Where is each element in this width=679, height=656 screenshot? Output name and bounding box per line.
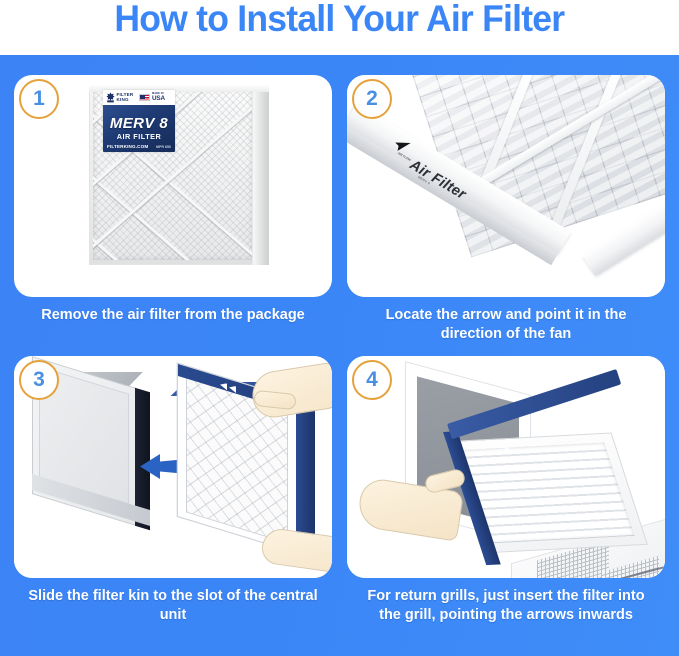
- step-4-card: [347, 356, 665, 578]
- step-3-number-badge: 3: [19, 360, 59, 400]
- slide-filter-illustration: [14, 356, 332, 578]
- step-4: 4 For return grills, just insert the fil…: [347, 356, 665, 646]
- filter-king-wordmark: FILTER KING: [117, 93, 134, 103]
- page-header: How to Install Your Air Filter: [0, 0, 679, 55]
- step-3-card: [14, 356, 332, 578]
- step-3: 3 Slide the filter kin to the slot of th…: [14, 356, 332, 646]
- crown-king-icon: [106, 92, 115, 103]
- infographic-page: How to Install Your Air Filter: [0, 0, 679, 656]
- return-grill-illustration: [347, 356, 665, 578]
- filter-side-edge: [252, 85, 269, 265]
- filter-label: FILTER KING MADE IN: [103, 90, 175, 152]
- air-filter-corner-photo: AIR FLOW Air Filter MERV 8: [347, 75, 665, 297]
- usa-flag-icon: [139, 94, 150, 101]
- website-text: FILTERKING.COM: [107, 144, 148, 149]
- step-1-number-badge: 1: [19, 79, 59, 119]
- step-4-number-badge: 4: [352, 360, 392, 400]
- step-4-caption: For return grills, just insert the filte…: [361, 587, 651, 625]
- label-header-row: FILTER KING MADE IN: [103, 90, 175, 105]
- filter-king-logo: FILTER KING: [106, 92, 133, 103]
- product-type-text: AIR FILTER: [103, 132, 175, 141]
- air-filter-product: FILTER KING MADE IN: [89, 85, 269, 265]
- hand-lower: [260, 527, 332, 574]
- step-2: AIR FLOW Air Filter MERV 8 2 Locate the …: [347, 75, 665, 350]
- merv-rating-text: MERV 8: [103, 115, 175, 132]
- steps-grid: FILTER KING MADE IN: [0, 55, 679, 656]
- step-1-image: FILTER KING MADE IN: [14, 75, 332, 297]
- label-navy-panel: MERV 8 AIR FILTER FILTERKING.COM MPR 650: [103, 105, 175, 152]
- step-2-caption: Locate the arrow and point it in the dir…: [361, 306, 651, 344]
- page-title: How to Install Your Air Filter: [115, 0, 565, 42]
- mpr-rating-text: MPR 650: [156, 145, 171, 149]
- step-1: FILTER KING MADE IN: [14, 75, 332, 350]
- step-1-caption: Remove the air filter from the package: [14, 306, 332, 325]
- step-1-card: FILTER KING MADE IN: [14, 75, 332, 297]
- step-2-number-badge: 2: [352, 79, 392, 119]
- made-in-usa-badge: MADE IN USA: [139, 93, 165, 102]
- step-3-caption: Slide the filter kin to the slot of the …: [28, 587, 318, 625]
- step-4-image: [347, 356, 665, 578]
- step-3-image: [14, 356, 332, 578]
- step-2-image: AIR FLOW Air Filter MERV 8: [347, 75, 665, 297]
- step-2-card: AIR FLOW Air Filter MERV 8: [347, 75, 665, 297]
